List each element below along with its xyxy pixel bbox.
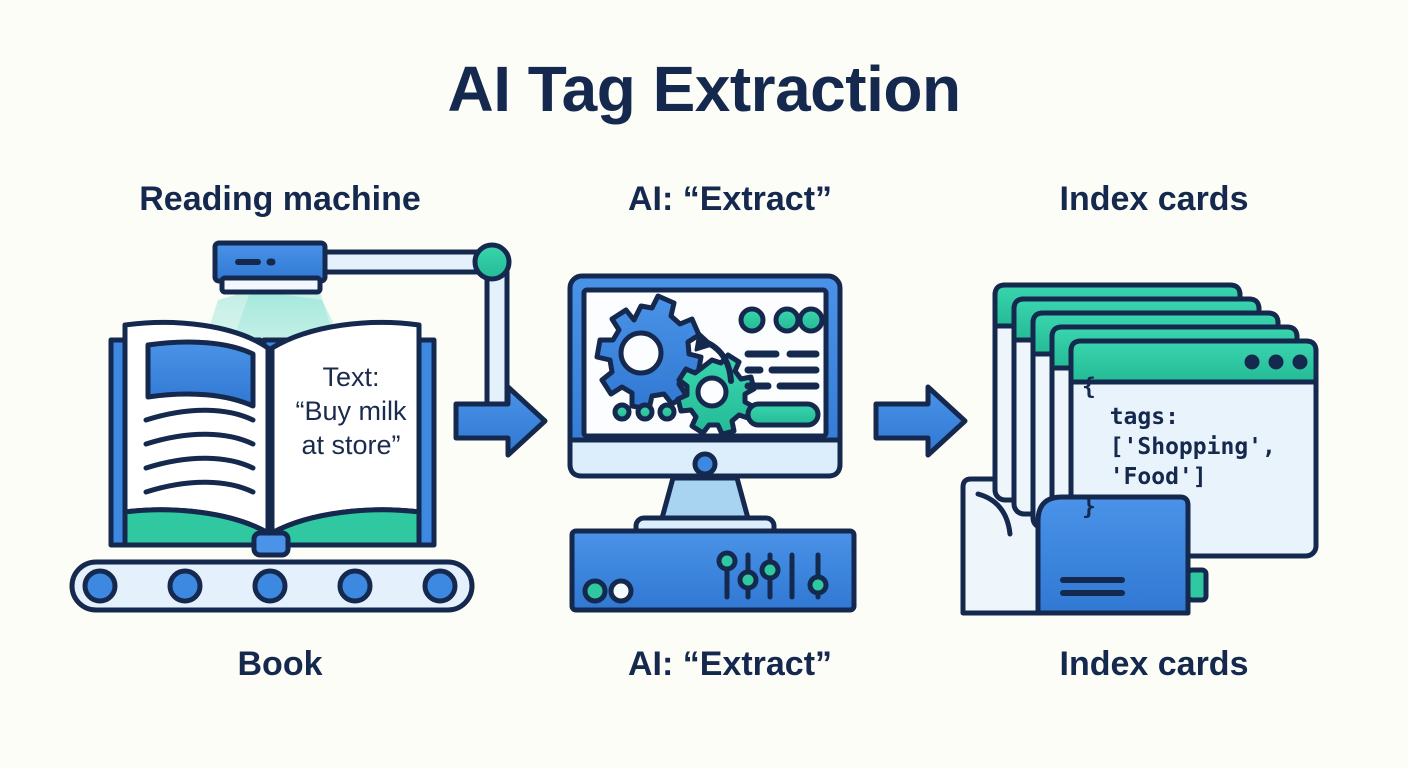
arrow-ai-to-cards	[876, 387, 965, 455]
book-spine-clasp	[254, 533, 288, 555]
ai-base-unit	[572, 531, 854, 610]
book-image-block	[148, 342, 253, 406]
screen-small-dots	[615, 405, 674, 419]
conveyor-roller	[425, 571, 455, 601]
scanner-arm-horizontal	[318, 252, 498, 272]
scanner-arm-vertical	[487, 268, 507, 420]
conveyor-roller	[255, 571, 285, 601]
base-indicator-dot	[585, 581, 605, 601]
window-dot	[1245, 355, 1260, 370]
screen-status-dots	[741, 309, 822, 331]
scanner-head	[215, 243, 325, 292]
conveyor-roller	[85, 571, 115, 601]
book-callout-text: Text: “Buy milk at store”	[276, 360, 426, 462]
index-card-code: { tags: ['Shopping', 'Food'] }	[1082, 372, 1312, 522]
conveyor-roller	[170, 571, 200, 601]
base-indicator-dot	[611, 581, 631, 601]
diagram-canvas: AI Tag Extraction Reading machine AI: “E…	[0, 0, 1408, 768]
conveyor-belt	[72, 562, 472, 610]
conveyor-roller	[340, 571, 370, 601]
screen-pill-button	[748, 404, 818, 425]
scanner-joint	[475, 245, 509, 279]
window-dot	[1293, 355, 1308, 370]
monitor-power-dot	[695, 454, 715, 474]
window-dot	[1269, 355, 1284, 370]
